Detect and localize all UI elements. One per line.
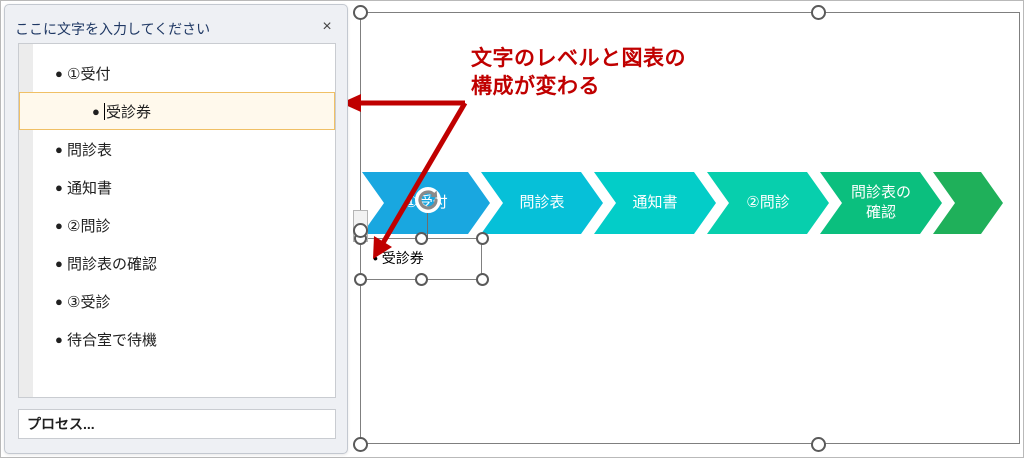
subshape-handle-bottom-right[interactable] [476, 273, 489, 286]
chevron-step-3[interactable]: 通知書 [594, 172, 716, 234]
rotate-handle-icon[interactable] [414, 186, 442, 214]
smartart-handle-top-left[interactable] [353, 5, 368, 20]
chevron-step-6[interactable] [933, 172, 1003, 234]
text-pane-item[interactable]: ●③受診 [33, 282, 335, 320]
bullet-icon: ● [55, 218, 67, 233]
text-pane-title: ここに文字を入力してください [15, 19, 210, 39]
chevron-step-2-label: 問診表 [519, 193, 564, 213]
text-pane-item[interactable]: ●①受付 [33, 54, 335, 92]
text-cursor [104, 103, 105, 120]
text-pane-item-label: 問診表 [67, 139, 112, 160]
text-pane-item-label: 待合室で待機 [67, 329, 157, 350]
bullet-icon: ● [55, 142, 67, 157]
close-icon[interactable]: × [317, 17, 337, 37]
chevron-step-5-label: 問診表の 確認 [851, 183, 911, 224]
text-pane-item-label: 受診券 [106, 101, 151, 122]
annotation-text: 文字のレベルと図表の 構成が変わる [471, 45, 686, 100]
chevron-step-4-label: ②問診 [746, 193, 789, 213]
text-pane-footer: プロセス... [18, 409, 336, 439]
smartart-handle-top-center[interactable] [811, 5, 826, 20]
bullet-icon: ● [55, 332, 67, 347]
slide-canvas: ①受付問診表通知書②問診問診表の 確認 • 受診券 › 文字のレベルと図表の 構… [0, 0, 1024, 458]
text-pane-item[interactable]: ●②問診 [33, 206, 335, 244]
text-pane-list[interactable]: ●①受付●受診券●問診表●通知書●②問診●問診表の確認●③受診●待合室で待機 [18, 43, 336, 398]
selected-subshape-bullet: • [373, 250, 378, 266]
text-pane-item-label: ②問診 [67, 215, 110, 236]
chevron-step-5[interactable]: 問診表の 確認 [820, 172, 942, 234]
chevron-step-2[interactable]: 問診表 [481, 172, 603, 234]
subshape-handle-top-center[interactable] [415, 232, 428, 245]
subshape-handle-bottom-left[interactable] [354, 273, 367, 286]
bullet-icon: ● [55, 180, 67, 195]
bullet-icon: ● [55, 66, 67, 81]
smartart-handle-middle-left[interactable] [353, 223, 368, 238]
bullet-icon: ● [55, 256, 67, 271]
text-pane-item-label: ①受付 [67, 63, 110, 84]
text-pane-items[interactable]: ●①受付●受診券●問診表●通知書●②問診●問診表の確認●③受診●待合室で待機 [33, 44, 335, 358]
text-pane-item[interactable]: ●問診表の確認 [33, 244, 335, 282]
bullet-icon: ● [92, 104, 104, 119]
text-pane-item[interactable]: ●待合室で待機 [33, 320, 335, 358]
text-pane-item-label: 通知書 [67, 177, 112, 198]
selected-subshape-label: 受診券 [382, 250, 424, 266]
smartart-text-pane[interactable]: ここに文字を入力してください × ●①受付●受診券●問診表●通知書●②問診●問診… [4, 4, 348, 454]
text-pane-item-selected[interactable]: ●受診券 [19, 92, 335, 130]
subshape-handle-bottom-center[interactable] [415, 273, 428, 286]
smartart-process-chevrons[interactable]: ①受付問診表通知書②問診問診表の 確認 [362, 172, 994, 234]
text-pane-item-label: ③受診 [67, 291, 110, 312]
text-pane-item[interactable]: ●問診表 [33, 130, 335, 168]
text-pane-item-label: 問診表の確認 [67, 253, 157, 274]
chevron-step-4[interactable]: ②問診 [707, 172, 829, 234]
bullet-icon: ● [55, 294, 67, 309]
smartart-handle-bottom-center[interactable] [811, 437, 826, 452]
chevron-step-3-label: 通知書 [632, 193, 677, 213]
selected-subshape-text: • 受診券 [373, 248, 424, 268]
text-pane-item[interactable]: ●通知書 [33, 168, 335, 206]
subshape-handle-top-right[interactable] [476, 232, 489, 245]
smartart-handle-bottom-left[interactable] [353, 437, 368, 452]
